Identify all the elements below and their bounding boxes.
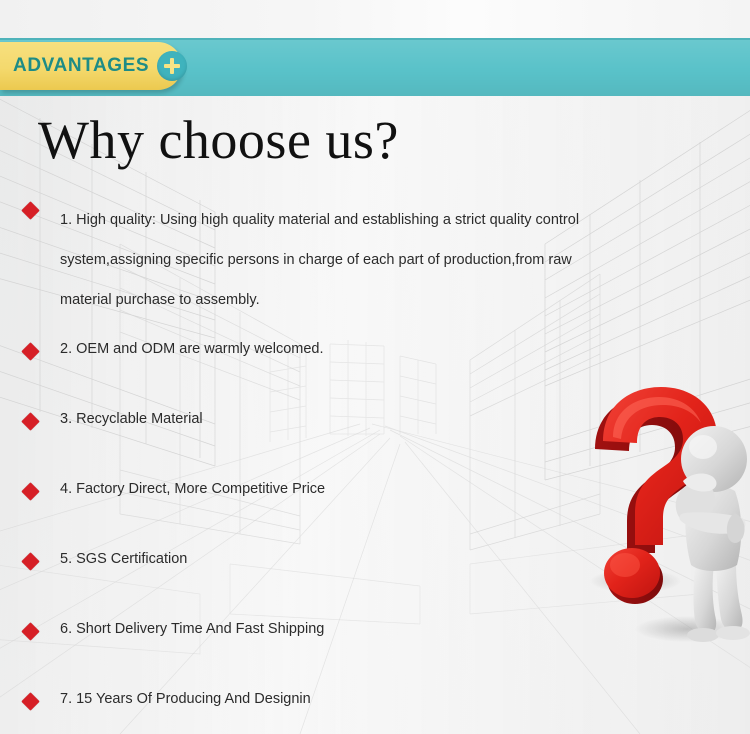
advantages-pill[interactable]: ADVANTAGES: [0, 42, 182, 90]
diamond-bullet-icon: [21, 622, 39, 640]
list-item-text: 5. SGS Certification: [60, 551, 187, 568]
diamond-bullet-icon: [21, 201, 39, 219]
advantages-label: ADVANTAGES: [13, 55, 149, 77]
list-item: 1. High quality: Using high quality mate…: [24, 200, 684, 320]
list-item-text: 4. Factory Direct, More Competitive Pric…: [60, 481, 325, 498]
diamond-bullet-icon: [21, 412, 39, 430]
diamond-bullet-icon: [21, 692, 39, 710]
advantages-banner-page: ADVANTAGES Why choose us? 1. High qualit…: [0, 0, 750, 734]
list-item-text: 7. 15 Years Of Producing And Designin: [60, 691, 311, 708]
diamond-bullet-icon: [21, 342, 39, 360]
list-item-text: 1. High quality: Using high quality mate…: [60, 200, 579, 320]
list-item-text: 2. OEM and ODM are warmly welcomed.: [60, 341, 324, 358]
plus-circle-icon[interactable]: [157, 51, 187, 81]
diamond-bullet-icon: [21, 552, 39, 570]
list-item: 2. OEM and ODM are warmly welcomed.: [24, 341, 684, 358]
list-item-text: 3. Recyclable Material: [60, 411, 203, 428]
top-strip: [0, 0, 750, 38]
page-title: Why choose us?: [38, 113, 399, 167]
diamond-bullet-icon: [21, 482, 39, 500]
list-item: 7. 15 Years Of Producing And Designin: [24, 691, 684, 708]
question-mark-graphic: [583, 385, 750, 655]
list-item-text: 6. Short Delivery Time And Fast Shipping: [60, 621, 324, 638]
